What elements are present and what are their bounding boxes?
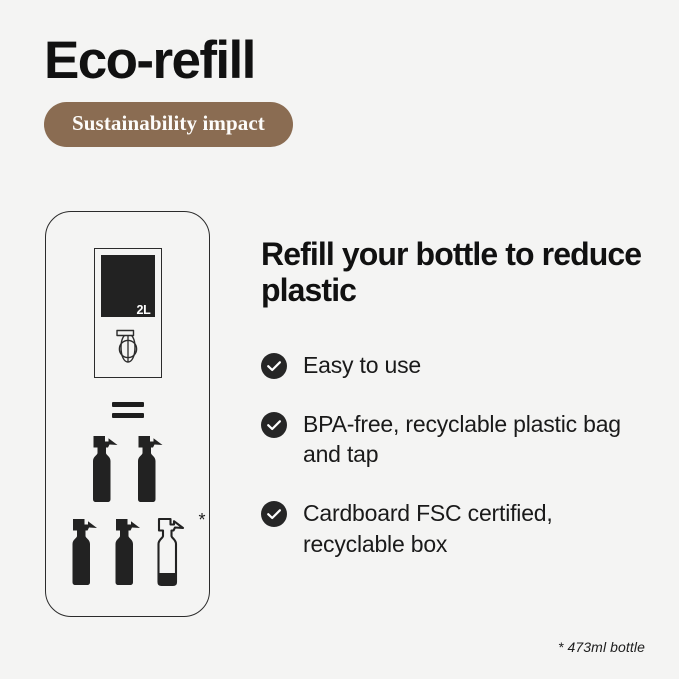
spray-bottle-icon (86, 434, 124, 511)
footnote: * 473ml bottle (558, 639, 645, 655)
check-circle-icon (261, 353, 287, 379)
header: Eco-refill Sustainability impact (44, 33, 644, 147)
feature-label: Easy to use (303, 350, 421, 381)
content-heading: Refill your bottle to reduce plastic (261, 236, 651, 308)
feature-item: BPA-free, recyclable plastic bag and tap (261, 409, 651, 470)
asterisk-marker: * (198, 511, 205, 529)
spray-bottle-icon (66, 517, 104, 594)
refill-box-illustration: 2L (94, 248, 162, 378)
spray-bottle-row-top (86, 434, 169, 511)
feature-item: Easy to use (261, 350, 651, 381)
equals-icon (112, 402, 144, 418)
spray-bottle-icon (109, 517, 147, 594)
page-title: Eco-refill (44, 33, 644, 89)
refill-bag-icon: 2L (101, 255, 155, 317)
refill-volume-label: 2L (137, 304, 151, 317)
feature-label: Cardboard FSC certified, recyclable box (303, 498, 651, 559)
feature-item: Cardboard FSC certified, recyclable box (261, 498, 651, 559)
spray-bottle-icon (131, 434, 169, 511)
cardboard-box-icon: 2L (94, 248, 162, 378)
equals-bar-top (112, 402, 144, 407)
spray-bottle-outline-icon: * (152, 517, 190, 594)
illustration-panel: 2L (45, 211, 210, 617)
content-column: Refill your bottle to reduce plastic Eas… (261, 236, 651, 559)
check-circle-icon (261, 412, 287, 438)
tap-icon (108, 325, 148, 374)
spray-bottle-row-bottom: * (66, 517, 190, 594)
check-circle-icon (261, 501, 287, 527)
status-badge: Sustainability impact (44, 102, 293, 147)
feature-label: BPA-free, recyclable plastic bag and tap (303, 409, 651, 470)
equals-bar-bottom (112, 413, 144, 418)
